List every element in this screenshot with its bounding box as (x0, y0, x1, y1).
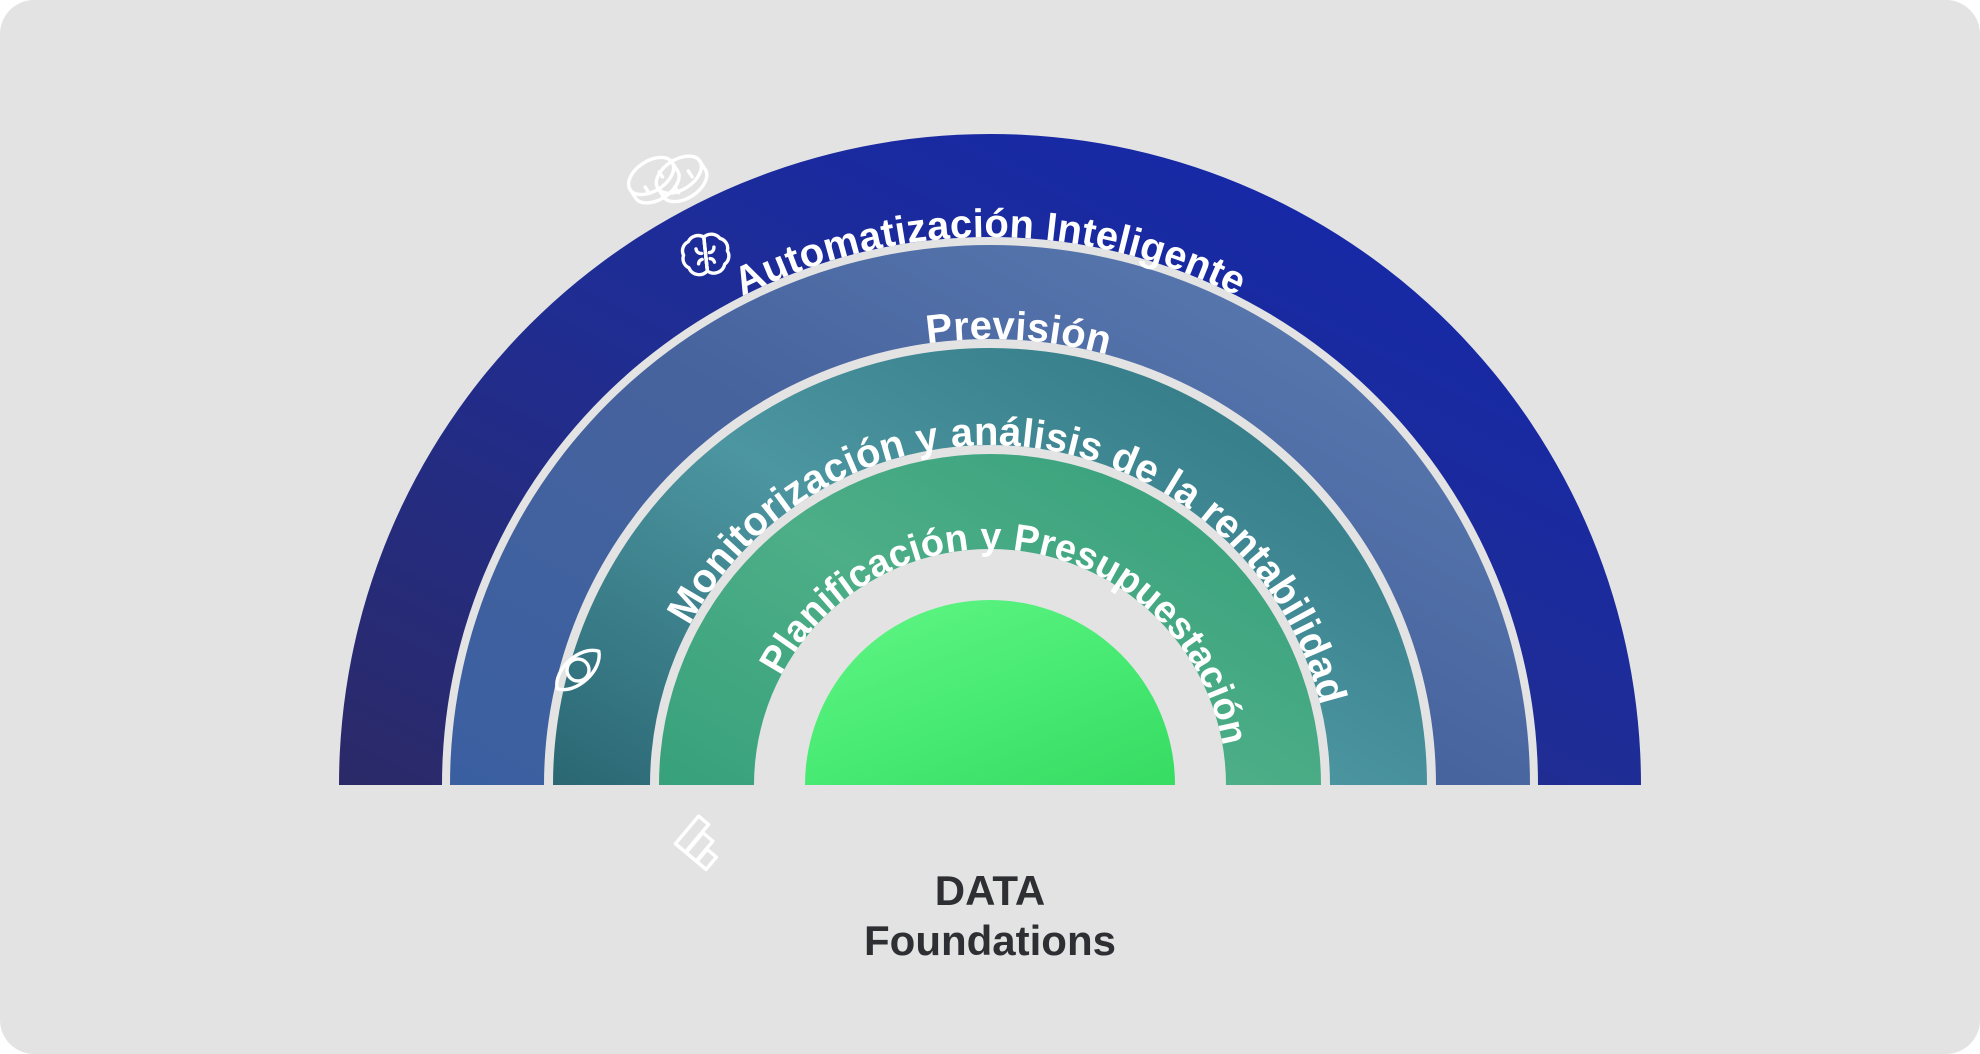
diagram-stage: Automatización Inteligente Previsión Mon… (0, 0, 1980, 1054)
arch-diagram: Automatización Inteligente Previsión Mon… (0, 0, 1980, 1054)
bar-chart-icon (675, 816, 729, 869)
center-dome[interactable] (805, 600, 1175, 785)
center-title-line1: DATA (935, 867, 1045, 914)
center-title-line2: Foundations (864, 917, 1116, 964)
